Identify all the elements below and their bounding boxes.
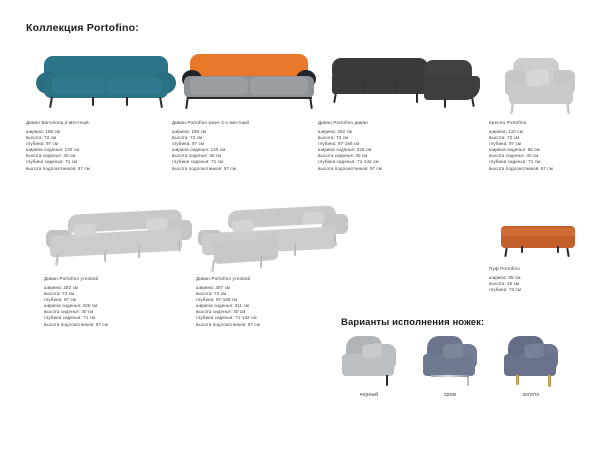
product-image-pouf-portofino xyxy=(489,214,597,266)
product-name: Диван Portofino диван xyxy=(318,120,483,125)
leg-variant-leg-black[interactable]: черный xyxy=(334,336,404,388)
page-title: Коллекция Portofino: xyxy=(26,22,139,34)
legs-section-title: Варианты исполнения ножек: xyxy=(341,317,484,328)
spec-item: высота подлокотников: 57 см xyxy=(172,166,332,172)
leg-variant-leg-gold[interactable]: золото xyxy=(496,336,566,388)
product-card-pouf-portofino[interactable]: Пуф Portofino ширина: 85 см высота: 40 с… xyxy=(489,214,597,293)
product-image-armchair-portofino xyxy=(489,42,597,120)
product-image-sofa-portofino xyxy=(318,42,483,120)
leg-variant-label: золото xyxy=(496,392,566,398)
spec-item: высота подлокотников: 57 см xyxy=(26,166,186,172)
product-name: Диван Portofino wave 2-х местный xyxy=(172,120,332,125)
spec-item: глубина: 73 см xyxy=(489,287,597,293)
product-name: Диван Barcelona 2-местный xyxy=(26,120,186,125)
product-specs: ширина: 110 см высота: 72 см глубина: 97… xyxy=(489,129,597,172)
product-card-sofa-portofino[interactable]: Диван Portofino диван ширина: 282 см выс… xyxy=(318,42,483,172)
spec-item: высота подлокотников: 57 см xyxy=(196,322,356,328)
product-specs: ширина: 196 см высота: 72 см глубина: 97… xyxy=(172,129,332,172)
product-name: Диван Portofino угловой xyxy=(196,276,356,281)
product-card-sofa-portofino-corner-282[interactable]: Диван Portofino угловой ширина: 282 см в… xyxy=(44,196,204,328)
product-image-sofa-barcelona-2 xyxy=(26,42,186,120)
product-card-sofa-barcelona-2[interactable]: Диван Barcelona 2-местный ширина: 196 см… xyxy=(26,42,186,172)
product-specs: ширина: 367 см высота: 72 см глубина: 97… xyxy=(196,285,356,328)
product-card-sofa-portofino-wave-2[interactable]: Диван Portofino wave 2-х местный ширина:… xyxy=(172,42,332,172)
leg-variant-label: хром xyxy=(415,392,485,398)
product-specs: ширина: 282 см высота: 72 см глубина: 97… xyxy=(318,129,483,172)
spec-item: высота подлокотников: 57 см xyxy=(489,166,597,172)
product-specs: ширина: 85 см высота: 40 см глубина: 73 … xyxy=(489,275,597,293)
product-image-sofa-portofino-wave-2 xyxy=(172,42,332,120)
leg-variant-label: черный xyxy=(334,392,404,398)
leg-variant-image xyxy=(502,336,562,386)
catalog-page: Коллекция Portofino: Диван Barcelona 2-м… xyxy=(0,0,600,450)
leg-variant-image xyxy=(421,336,481,386)
product-card-armchair-portofino[interactable]: Кресло Portofino ширина: 110 см высота: … xyxy=(489,42,597,172)
product-image-sofa-portofino-corner-367 xyxy=(196,192,356,276)
spec-item: высота подлокотников: 57 см xyxy=(44,322,204,328)
spec-item: высота подлокотников: 57 см xyxy=(318,166,483,172)
product-specs: ширина: 196 см высота: 72 см глубина: 97… xyxy=(26,129,186,172)
leg-variant-image xyxy=(340,336,400,386)
product-specs: ширина: 282 см высота: 72 см глубина: 97… xyxy=(44,285,204,328)
product-name: Диван Portofino угловой xyxy=(44,276,204,281)
product-card-sofa-portofino-corner-367[interactable]: Диван Portofino угловой ширина: 367 см в… xyxy=(196,192,356,328)
product-name: Кресло Portofino xyxy=(489,120,597,125)
product-name: Пуф Portofino xyxy=(489,266,597,271)
leg-variant-leg-chrome[interactable]: хром xyxy=(415,336,485,388)
product-image-sofa-portofino-corner-282 xyxy=(44,196,204,276)
